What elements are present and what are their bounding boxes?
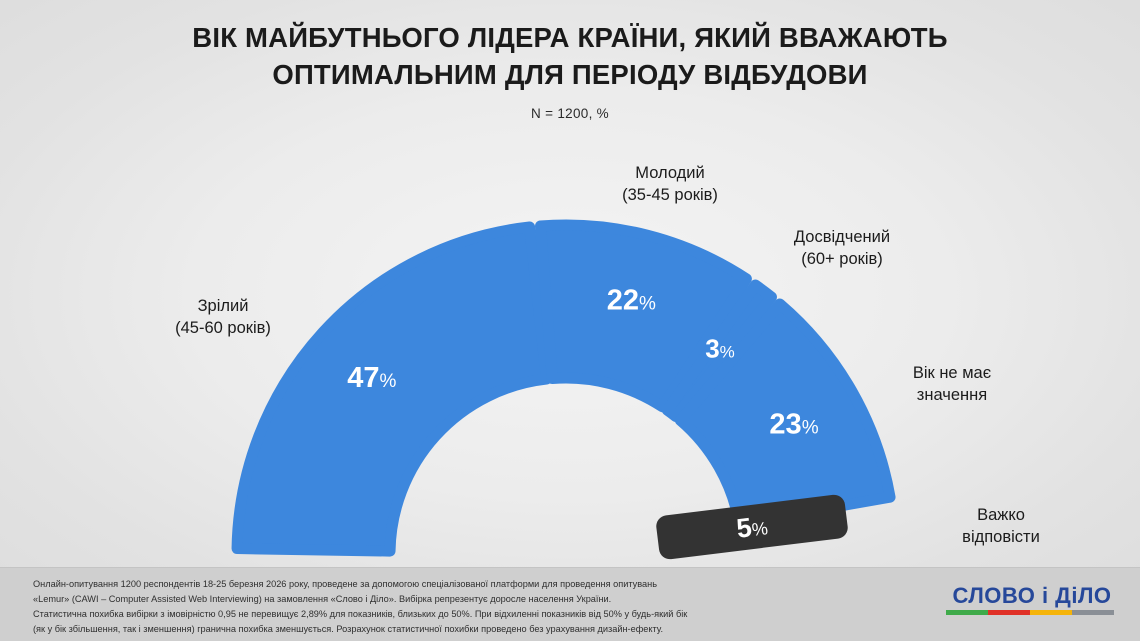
methodology-line-2: «Lemur» (CAWI – Computer Assisted Web In… bbox=[33, 592, 833, 607]
footer-band: Онлайн-опитування 1200 респондентів 18-2… bbox=[0, 567, 1140, 641]
methodology-line-3: Статистична похибка вибірки з імовірніст… bbox=[33, 607, 833, 622]
logo-bar-red bbox=[988, 610, 1030, 615]
methodology-note: Онлайн-опитування 1200 респондентів 18-2… bbox=[33, 577, 833, 637]
logo-bar-green bbox=[946, 610, 988, 615]
logo-wordmark: СЛОВО і ДіЛО bbox=[946, 585, 1118, 607]
slovo-i-dilo-logo[interactable]: СЛОВО і ДіЛО bbox=[946, 585, 1118, 615]
logo-color-bars bbox=[946, 610, 1114, 615]
logo-bar-gray bbox=[1072, 610, 1114, 615]
methodology-line-4: (як у бік збільшення, так і зменшення) г… bbox=[33, 622, 833, 637]
half-donut-chart: 47%22%3%23%5% bbox=[0, 0, 1140, 641]
methodology-line-1: Онлайн-опитування 1200 респондентів 18-2… bbox=[33, 577, 833, 592]
infographic-canvas: ВІК МАЙБУТНЬОГО ЛІДЕРА КРАЇНИ, ЯКИЙ ВВАЖ… bbox=[0, 0, 1140, 641]
logo-bar-yellow bbox=[1030, 610, 1072, 615]
donut-slices bbox=[237, 225, 890, 560]
